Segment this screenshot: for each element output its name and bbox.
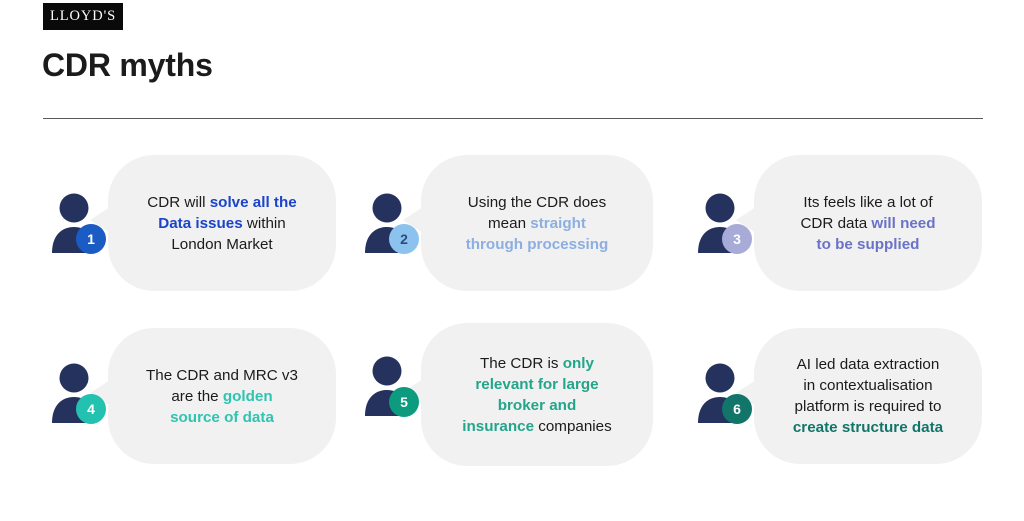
myth-highlight: relevant for large [475, 376, 598, 393]
myth-number-badge-5: 5 [389, 387, 419, 417]
page-title: CDR myths [42, 48, 213, 83]
myth-bubble-4[interactable]: The CDR and MRC v3are the goldensource o… [108, 328, 336, 464]
slide-canvas: LLOYD'S CDR myths CDR will solve all the… [0, 0, 1024, 521]
myth-number-badge-3: 3 [722, 224, 752, 254]
myth-plain: in contextualisation [803, 377, 932, 394]
myth-plain: CDR data [800, 215, 871, 232]
myth-highlight: insurance [462, 418, 534, 435]
myth-highlight: will need [871, 215, 935, 232]
myth-number-badge-1: 1 [76, 224, 106, 254]
myth-highlight: create structure data [793, 419, 943, 436]
myth-number-badge-4: 4 [76, 394, 106, 424]
myth-plain: AI led data extraction [797, 356, 940, 373]
avatar-1: 1 [50, 192, 104, 254]
myth-text-5: The CDR is onlyrelevant for largebroker … [462, 353, 611, 437]
myth-plain: are the [171, 388, 223, 405]
myth-bubble-1[interactable]: CDR will solve all theData issues within… [108, 155, 336, 291]
avatar-2: 2 [363, 192, 417, 254]
myth-bubble-6[interactable]: AI led data extractionin contextualisati… [754, 328, 982, 464]
myth-plain: CDR will [147, 194, 209, 211]
lloyds-logo-text: LLOYD'S [50, 9, 116, 24]
avatar-5: 5 [363, 355, 417, 417]
myth-highlight: solve all the [210, 194, 297, 211]
header-divider [43, 118, 983, 119]
myth-highlight: straight [530, 215, 586, 232]
myth-highlight: Data issues [158, 215, 242, 232]
myth-text-4: The CDR and MRC v3are the goldensource o… [146, 365, 298, 428]
myth-plain: London Market [171, 236, 272, 253]
avatar-3: 3 [696, 192, 750, 254]
myth-plain: platform is required to [795, 398, 942, 415]
myth-plain: The CDR and MRC v3 [146, 367, 298, 384]
myth-bubble-2[interactable]: Using the CDR doesmean straightthrough p… [421, 155, 653, 291]
myth-text-3: Its feels like a lot ofCDR data will nee… [800, 192, 935, 255]
myth-plain: mean [488, 215, 530, 232]
myth-plain: Using the CDR does [468, 194, 606, 211]
myth-highlight: broker and [498, 397, 577, 414]
myth-highlight: to be supplied [817, 236, 920, 253]
myth-plain: within [243, 215, 286, 232]
myth-plain: The CDR is [480, 355, 563, 372]
myth-text-2: Using the CDR doesmean straightthrough p… [466, 192, 609, 255]
myth-highlight: source of data [170, 409, 274, 426]
myth-number-badge-2: 2 [389, 224, 419, 254]
avatar-4: 4 [50, 362, 104, 424]
myth-highlight: golden [223, 388, 273, 405]
myth-bubble-5[interactable]: The CDR is onlyrelevant for largebroker … [421, 323, 653, 466]
avatar-6: 6 [696, 362, 750, 424]
myth-bubble-3[interactable]: Its feels like a lot ofCDR data will nee… [754, 155, 982, 291]
lloyds-logo: LLOYD'S [43, 3, 123, 30]
myth-highlight: only [563, 355, 594, 372]
myth-text-6: AI led data extractionin contextualisati… [793, 354, 943, 438]
myth-plain: Its feels like a lot of [803, 194, 932, 211]
myth-number-badge-6: 6 [722, 394, 752, 424]
myth-highlight: through processing [466, 236, 609, 253]
myth-text-1: CDR will solve all theData issues within… [147, 192, 296, 255]
myth-plain: companies [534, 418, 612, 435]
